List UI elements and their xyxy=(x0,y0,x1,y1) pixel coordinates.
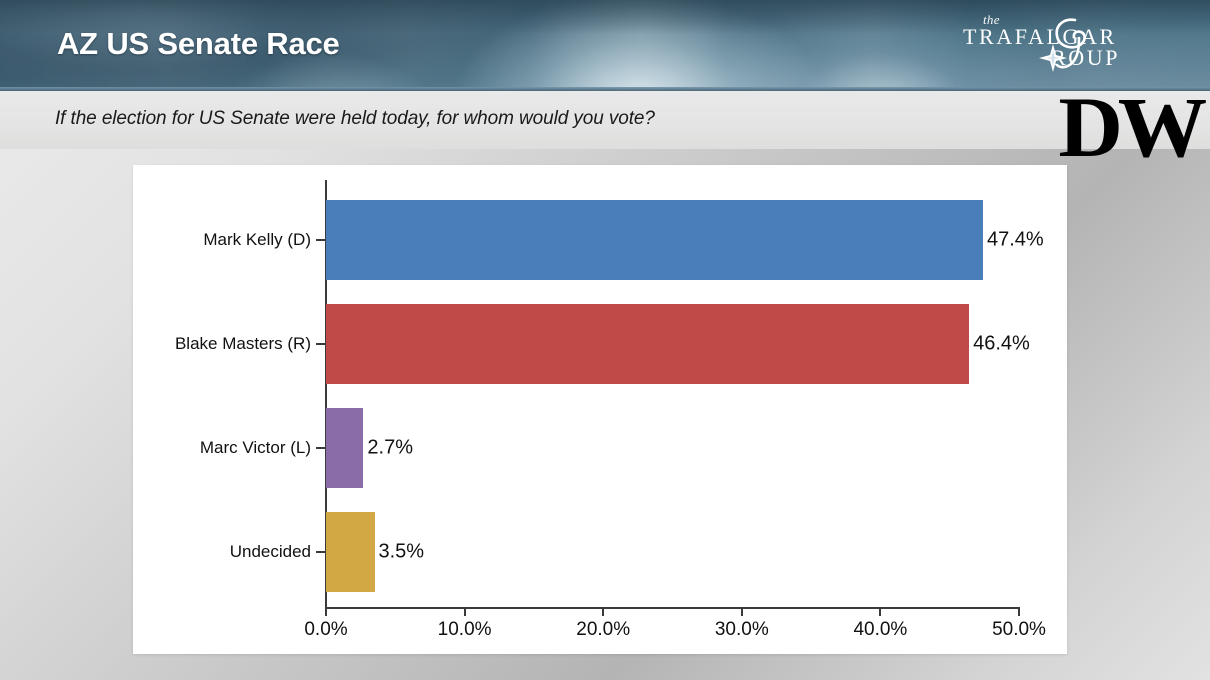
compass-star-g-icon xyxy=(1033,14,1103,76)
page-title: AZ US Senate Race xyxy=(57,26,340,62)
bar-3 xyxy=(326,408,363,488)
bar-value-label: 46.4% xyxy=(973,333,1030,356)
y-axis-tick xyxy=(316,343,326,345)
x-axis-tick-label: 10.0% xyxy=(438,619,492,641)
x-axis-tick-label: 40.0% xyxy=(853,619,907,641)
category-label: Blake Masters (R) xyxy=(175,334,311,354)
x-axis-tick xyxy=(325,609,327,616)
trafalgar-group-logo: the TRAFALGAR ROUP xyxy=(951,12,1166,78)
x-axis-tick xyxy=(464,609,466,616)
x-axis-line xyxy=(325,607,1020,609)
bar-value-label: 3.5% xyxy=(379,541,425,564)
daily-wire-logo: DW xyxy=(1036,88,1202,166)
bar-value-label: 2.7% xyxy=(367,437,413,460)
plot-area: 0.0%10.0%20.0%30.0%40.0%50.0%Mark Kelly … xyxy=(133,165,1067,654)
bar-1 xyxy=(326,200,983,280)
y-axis-tick xyxy=(316,239,326,241)
x-axis-tick-label: 50.0% xyxy=(992,619,1046,641)
category-label: Mark Kelly (D) xyxy=(203,230,311,250)
poll-question: If the election for US Senate were held … xyxy=(55,108,655,130)
x-axis-tick-label: 20.0% xyxy=(576,619,630,641)
x-axis-tick xyxy=(602,609,604,616)
bar-2 xyxy=(326,304,969,384)
bar-value-label: 47.4% xyxy=(987,229,1044,252)
category-label: Undecided xyxy=(230,542,311,562)
x-axis-tick xyxy=(1018,609,1020,616)
x-axis-tick xyxy=(879,609,881,616)
chart-panel: 0.0%10.0%20.0%30.0%40.0%50.0%Mark Kelly … xyxy=(133,165,1067,654)
y-axis-tick xyxy=(316,551,326,553)
x-axis-tick xyxy=(741,609,743,616)
y-axis-tick xyxy=(316,447,326,449)
x-axis-tick-label: 30.0% xyxy=(715,619,769,641)
bar-4 xyxy=(326,512,375,592)
slide-canvas: AZ US Senate Race the TRAFALGAR ROUP If … xyxy=(0,0,1210,680)
category-label: Marc Victor (L) xyxy=(200,438,311,458)
x-axis-tick-label: 0.0% xyxy=(304,619,347,641)
